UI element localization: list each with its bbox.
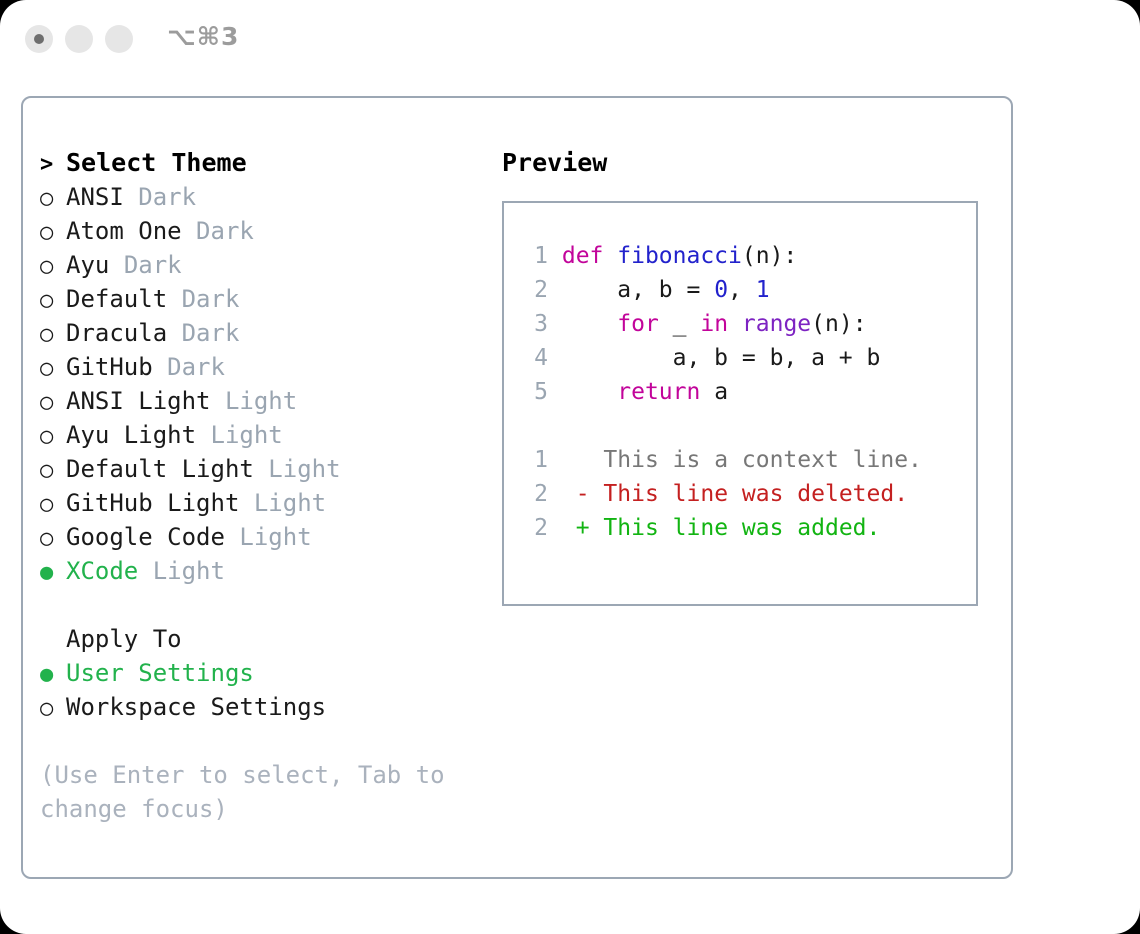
theme-list: ○ANSI Dark○Atom One Dark○Ayu Dark○Defaul… — [40, 180, 490, 588]
radio-unselected-icon: ○ — [40, 182, 66, 216]
diff-line-number: 2 — [520, 477, 548, 511]
window-titlebar: ⌥⌘3 — [0, 0, 1140, 78]
code-token: 0 — [714, 277, 728, 303]
diff-text: This line was added. — [603, 515, 880, 541]
radio-unselected-icon: ○ — [40, 216, 66, 250]
radio-selected-icon: ● — [40, 658, 66, 692]
theme-variant-badge: Dark — [138, 183, 196, 211]
theme-variant-badge: Dark — [167, 353, 225, 381]
code-token: def — [562, 243, 617, 269]
theme-variant-badge: Light — [153, 557, 225, 585]
diff-line-number: 2 — [520, 511, 548, 545]
theme-list-item[interactable]: ○ANSI Dark — [40, 180, 490, 214]
theme-list-item[interactable]: ○Ayu Light Light — [40, 418, 490, 452]
theme-picker-panel: >Select Theme ○ANSI Dark○Atom One Dark○A… — [21, 96, 1013, 879]
code-token: a, b = b, a + b — [562, 345, 881, 371]
radio-selected-icon: ● — [40, 556, 66, 590]
theme-name: ANSI Light — [66, 387, 211, 415]
code-token: fibonacci — [617, 243, 742, 269]
apply-to-option-label: User Settings — [66, 659, 254, 687]
window-dot-inner — [34, 34, 44, 44]
radio-unselected-icon: ○ — [40, 522, 66, 556]
theme-name: GitHub — [66, 353, 153, 381]
theme-name: Google Code — [66, 523, 225, 551]
preview-column: Preview 1 def fibonacci(n):2 a, b = 0, 1… — [502, 146, 992, 606]
theme-name: Ayu — [66, 251, 109, 279]
diff-text: This line was deleted. — [603, 481, 908, 507]
theme-list-item[interactable]: ○Ayu Dark — [40, 248, 490, 282]
code-token: 1 — [756, 277, 770, 303]
code-line: 4 a, b = b, a + b — [520, 341, 968, 375]
diff-line-number: 1 — [520, 443, 548, 477]
theme-list-item[interactable]: ○Default Light Light — [40, 452, 490, 486]
code-token: range — [742, 311, 811, 337]
code-token: for — [617, 311, 659, 337]
apply-to-option-label: Workspace Settings — [66, 693, 326, 721]
theme-variant-badge: Dark — [124, 251, 182, 279]
radio-unselected-icon: ○ — [40, 386, 66, 420]
diff-line: 2 - This line was deleted. — [520, 477, 968, 511]
theme-selection-column: >Select Theme ○ANSI Dark○Atom One Dark○A… — [40, 146, 490, 826]
theme-list-item[interactable]: ○ANSI Light Light — [40, 384, 490, 418]
code-line-number: 4 — [520, 341, 548, 375]
preview-code-area: 1 def fibonacci(n):2 a, b = 0, 13 for _ … — [520, 239, 968, 545]
apply-to-options: ●User Settings○Workspace Settings — [40, 656, 490, 724]
theme-name: Dracula — [66, 319, 167, 347]
radio-unselected-icon: ○ — [40, 488, 66, 522]
theme-variant-badge: Light — [211, 421, 283, 449]
code-token: , — [728, 277, 756, 303]
diff-sign — [576, 447, 590, 473]
code-token — [562, 379, 617, 405]
theme-name: Ayu Light — [66, 421, 196, 449]
theme-list-item[interactable]: ○Default Dark — [40, 282, 490, 316]
theme-list-item[interactable]: ○Atom One Dark — [40, 214, 490, 248]
code-line: 3 for _ in range(n): — [520, 307, 968, 341]
diff-line: 1 This is a context line. — [520, 443, 968, 477]
app-window: ⌥⌘3 >Select Theme ○ANSI Dark○Atom One Da… — [0, 0, 1140, 934]
radio-unselected-icon: ○ — [40, 692, 66, 726]
code-token: in — [700, 311, 728, 337]
diff-text: This is a context line. — [603, 447, 922, 473]
preview-box: 1 def fibonacci(n):2 a, b = 0, 13 for _ … — [502, 201, 978, 606]
theme-variant-badge: Light — [268, 455, 340, 483]
theme-variant-badge: Dark — [196, 217, 254, 245]
theme-variant-badge: Light — [254, 489, 326, 517]
select-theme-heading: >Select Theme — [40, 146, 490, 180]
theme-name: ANSI — [66, 183, 124, 211]
apply-to-heading: Apply To — [40, 622, 490, 656]
radio-unselected-icon: ○ — [40, 420, 66, 454]
code-token — [562, 311, 617, 337]
code-token: (n): — [811, 311, 866, 337]
select-theme-heading-label: Select Theme — [66, 148, 247, 177]
code-line: 1 def fibonacci(n): — [520, 239, 968, 273]
code-line-number: 5 — [520, 375, 548, 409]
theme-list-item[interactable]: ●XCode Light — [40, 554, 490, 588]
code-line-number: 3 — [520, 307, 548, 341]
code-token — [728, 311, 742, 337]
theme-name: Atom One — [66, 217, 182, 245]
apply-to-section: Apply To ●User Settings○Workspace Settin… — [40, 622, 490, 724]
apply-to-heading-label: Apply To — [66, 625, 182, 653]
theme-variant-badge: Dark — [182, 319, 240, 347]
code-line: 2 a, b = 0, 1 — [520, 273, 968, 307]
prompt-caret-icon: > — [40, 148, 66, 182]
theme-variant-badge: Light — [239, 523, 311, 551]
diff-sign: + — [576, 515, 590, 541]
theme-name: XCode — [66, 557, 138, 585]
theme-name: GitHub Light — [66, 489, 239, 517]
keyboard-shortcut-label: ⌥⌘3 — [167, 22, 239, 51]
radio-unselected-icon: ○ — [40, 250, 66, 284]
apply-to-option[interactable]: ○Workspace Settings — [40, 690, 490, 724]
diff-sign: - — [576, 481, 590, 507]
radio-unselected-icon: ○ — [40, 284, 66, 318]
theme-list-item[interactable]: ○Dracula Dark — [40, 316, 490, 350]
code-line-number: 2 — [520, 273, 548, 307]
code-diff-separator — [520, 409, 968, 443]
theme-list-item[interactable]: ○GitHub Light Light — [40, 486, 490, 520]
preview-heading: Preview — [502, 146, 992, 180]
theme-list-item[interactable]: ○Google Code Light — [40, 520, 490, 554]
theme-name: Default Light — [66, 455, 254, 483]
code-token: a — [700, 379, 728, 405]
radio-unselected-icon: ○ — [40, 352, 66, 386]
code-token: (n): — [742, 243, 797, 269]
code-token: a, b = — [562, 277, 714, 303]
code-line: 5 return a — [520, 375, 968, 409]
radio-unselected-icon: ○ — [40, 454, 66, 488]
code-token: return — [617, 379, 700, 405]
radio-unselected-icon: ○ — [40, 318, 66, 352]
diff-line: 2 + This line was added. — [520, 511, 968, 545]
theme-list-item[interactable]: ○GitHub Dark — [40, 350, 490, 384]
apply-to-option[interactable]: ●User Settings — [40, 656, 490, 690]
window-dot-active[interactable] — [25, 25, 53, 53]
window-dot-second[interactable] — [65, 25, 93, 53]
theme-variant-badge: Light — [225, 387, 297, 415]
code-token: _ — [659, 311, 701, 337]
keyboard-hint-text: (Use Enter to select, Tab to change focu… — [40, 758, 460, 826]
theme-variant-badge: Dark — [182, 285, 240, 313]
code-line-number: 1 — [520, 239, 548, 273]
theme-name: Default — [66, 285, 167, 313]
window-dot-third[interactable] — [105, 25, 133, 53]
